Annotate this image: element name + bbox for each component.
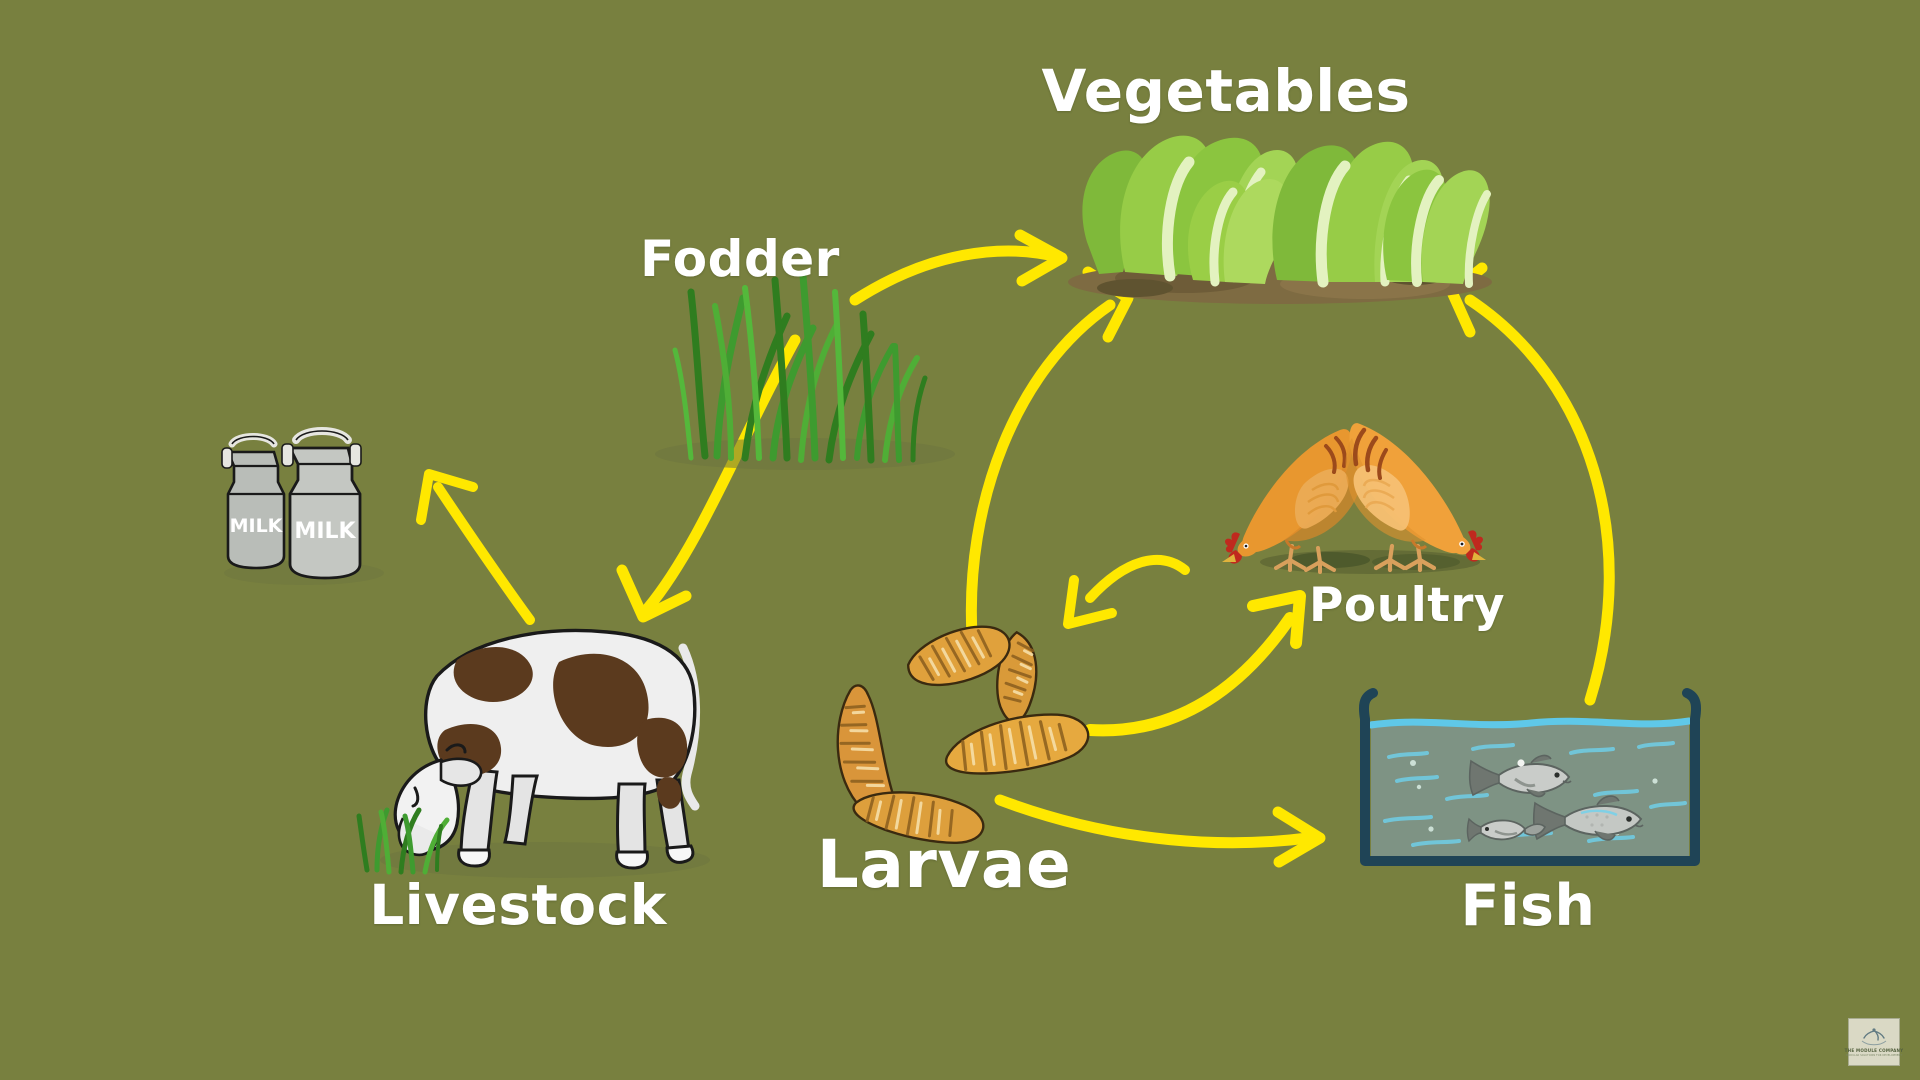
grass-tuft-icon	[645, 258, 965, 468]
grazing-cow-icon	[345, 620, 720, 880]
label-larvae: Larvae	[817, 832, 1071, 898]
watermark-line2: MODULAR SOLUTIONS FOR DEVELOPMENT	[1846, 1054, 1902, 1057]
fish-tank-icon	[1355, 685, 1705, 875]
larvae-grubs-icon	[840, 620, 1130, 850]
arrow-larvae-to-vegetables	[971, 272, 1128, 635]
label-fodder: Fodder	[640, 234, 840, 284]
arrow-poultry-to-larvae	[1068, 560, 1185, 624]
label-livestock: Livestock	[369, 878, 667, 933]
diagram-canvas: Vegetables	[0, 0, 1920, 1080]
milk-can-label-front: MILK	[294, 519, 356, 544]
arrow-livestock-to-milk	[421, 474, 530, 620]
lettuce-row-icon	[1065, 122, 1495, 307]
chickens-icon	[1220, 390, 1500, 575]
label-fish: Fish	[1461, 878, 1596, 935]
milk-can-label-back: MILK	[230, 515, 284, 537]
bird-logo-icon	[1859, 1027, 1889, 1047]
watermark-line1: THE MODULE COMPANY	[1845, 1048, 1904, 1053]
label-poultry: Poultry	[1309, 582, 1505, 629]
label-vegetables: Vegetables	[1041, 62, 1410, 120]
milk-cans-icon: MILK MILK	[212, 408, 392, 583]
watermark-logo: THE MODULE COMPANY MODULAR SOLUTIONS FOR…	[1848, 1018, 1900, 1066]
